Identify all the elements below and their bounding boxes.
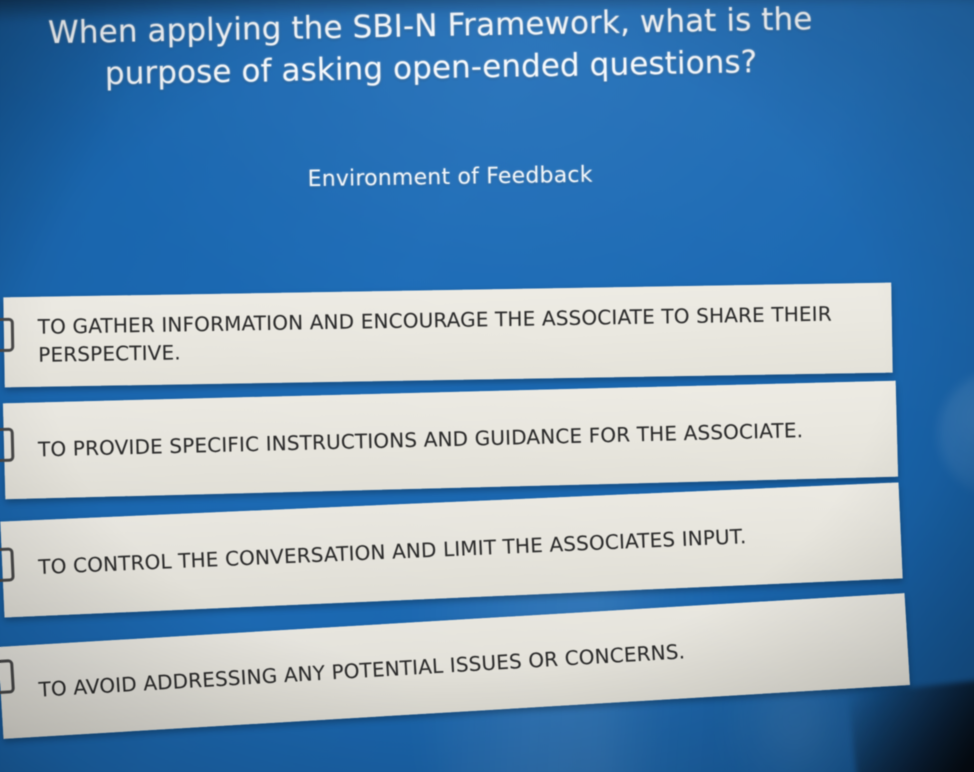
answer-option-d-label: TO AVOID ADDRESSING ANY POTENTIAL ISSUES… (38, 639, 686, 705)
quiz-screen: When applying the SBI-N Framework, what … (0, 0, 974, 772)
question-title: When applying the SBI-N Framework, what … (0, 0, 861, 98)
checkbox-icon-option-d[interactable] (0, 659, 15, 695)
answer-option-a[interactable]: TO GATHER INFORMATION AND ENCOURAGE THE … (3, 283, 892, 388)
answer-option-a-label: TO GATHER INFORMATION AND ENCOURAGE THE … (38, 300, 879, 369)
answer-option-c-label: TO CONTROL THE CONVERSATION AND LIMIT TH… (38, 523, 747, 581)
answer-option-b-label: TO PROVIDE SPECIFIC INSTRUCTIONS AND GUI… (38, 417, 804, 464)
checkbox-icon-option-b[interactable] (0, 428, 14, 463)
checkbox-icon-option-c[interactable] (0, 547, 15, 582)
checkbox-icon-option-a[interactable] (0, 318, 14, 352)
question-block: When applying the SBI-N Framework, what … (0, 0, 861, 98)
